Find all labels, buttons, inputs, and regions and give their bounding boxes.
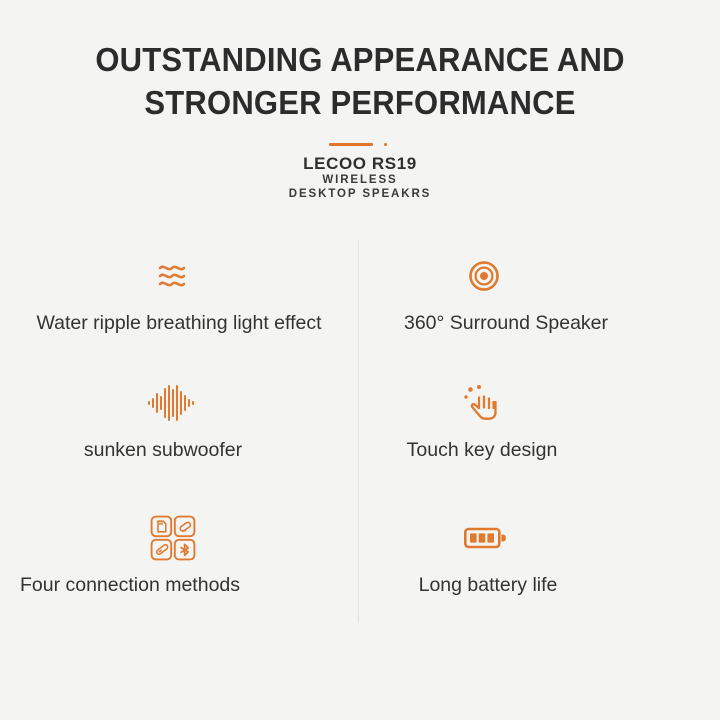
connection-methods-grid-icon — [0, 514, 353, 562]
feature-label: Long battery life — [308, 572, 668, 598]
surround-speaker-icon — [304, 252, 664, 300]
feature-label: sunken subwoofer — [0, 437, 343, 463]
brand-block: LECOO RS19 WIRELESS DESKTOP SPEAKRS — [0, 140, 720, 201]
feature-item-surround-speaker: 360° Surround Speaker — [360, 252, 720, 336]
brand-name: LECOO RS19 — [0, 154, 720, 173]
brand-subtitle-line-2: DESKTOP SPEAKRS — [0, 187, 720, 201]
feature-label: 360° Surround Speaker — [326, 310, 686, 336]
brand-subtitle-line-1: WIRELESS — [0, 173, 720, 187]
waveform-subwoofer-icon — [0, 379, 351, 427]
feature-label: Four connection methods — [0, 572, 310, 598]
water-ripple-icon — [0, 252, 352, 300]
feature-grid: Water ripple breathing light effect 360°… — [0, 244, 720, 634]
feature-item-touch-key: Touch key design — [360, 379, 720, 463]
page-title: OUTSTANDING APPEARANCE AND STRONGER PERF… — [22, 38, 699, 124]
feature-item-battery-life: Long battery life — [360, 514, 720, 598]
page-title-line-2: STRONGER PERFORMANCE — [22, 81, 699, 124]
touch-hand-icon — [302, 379, 662, 427]
page-title-line-1: OUTSTANDING APPEARANCE AND — [22, 38, 699, 81]
brand-accent-mark — [329, 140, 391, 151]
feature-label: Water ripple breathing light effect — [0, 310, 359, 336]
accent-dot-icon — [384, 143, 387, 146]
accent-bar-icon — [329, 143, 373, 146]
battery-icon — [306, 514, 666, 562]
feature-label: Touch key design — [302, 437, 662, 463]
